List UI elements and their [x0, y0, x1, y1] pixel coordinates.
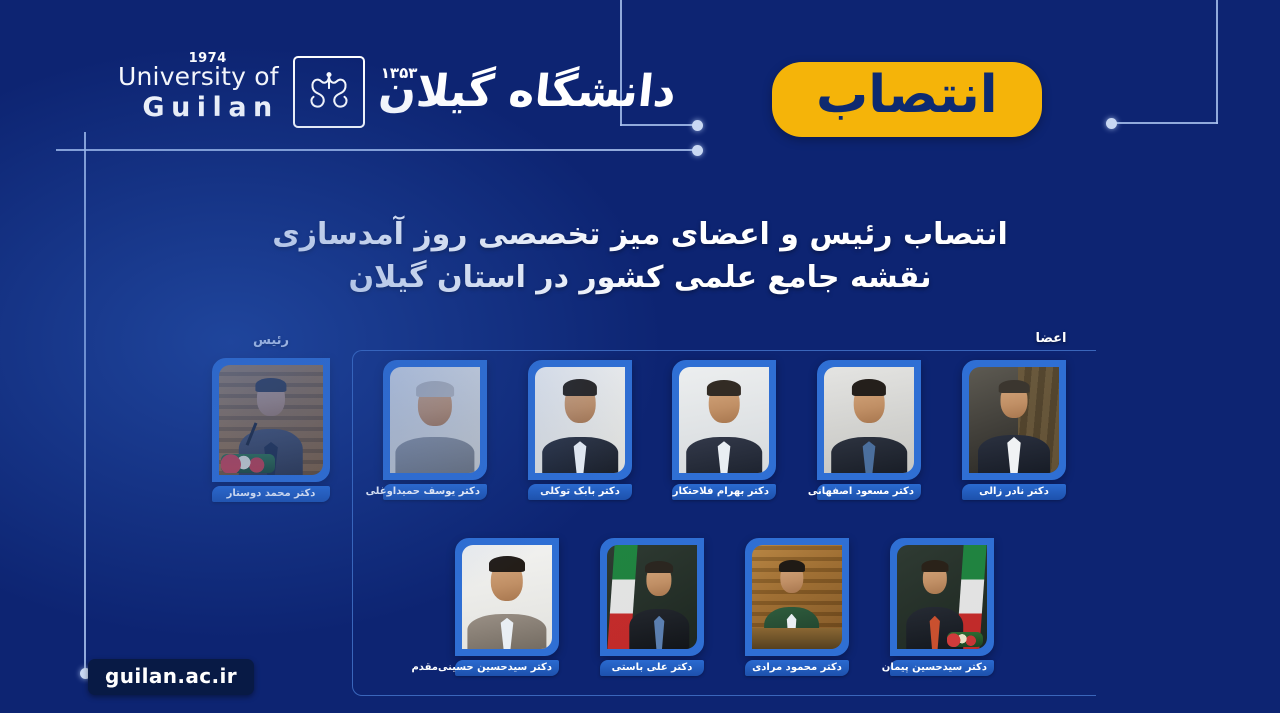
member-card-9[interactable]: دکتر سیدحسین پیمان — [890, 538, 994, 676]
page-title-line2: نقشه جامع علمی کشور در استان گیلان — [0, 257, 1280, 300]
member-photo-frame — [890, 538, 994, 656]
chair-name-label: دکتر محمد دوستار — [212, 486, 330, 502]
poster-canvas: 1974 University of Guilan ۱۳۵۳ دانشگاه گ… — [0, 0, 1280, 713]
chair-photo-frame — [212, 358, 330, 482]
member-photo-frame — [600, 538, 704, 656]
member-photo-frame — [817, 360, 921, 480]
deco-dot-right — [1106, 118, 1117, 129]
member-portrait-photo — [679, 367, 769, 473]
member-name-label: دکتر نادر زالی — [962, 484, 1066, 500]
logo-english-line1: University of — [118, 64, 279, 89]
university-logo: 1974 University of Guilan ۱۳۵۳ دانشگاه گ… — [118, 56, 682, 128]
member-photo-frame — [455, 538, 559, 656]
member-name-label: دکتر محمود مرادی — [745, 660, 849, 676]
website-url-pill[interactable]: guilan.ac.ir — [88, 659, 254, 695]
member-card-1[interactable]: دکتر یوسف حمیداوغلی — [383, 360, 487, 500]
member-name-label: دکتر بهرام فلاحتکار — [672, 484, 776, 500]
member-portrait-photo — [535, 367, 625, 473]
deco-line-right-vertical — [1216, 0, 1218, 124]
member-name-label: دکتر سیدحسین پیمان — [890, 660, 994, 676]
member-portrait-photo — [462, 545, 552, 649]
member-card-3[interactable]: دکتر بهرام فلاحتکار — [672, 360, 776, 500]
member-photo-frame — [672, 360, 776, 480]
deco-line-right-horizontal — [1112, 122, 1218, 124]
deco-dot-logo-underline — [692, 145, 703, 156]
logo-persian-name: دانشگاه گیلان — [376, 70, 677, 114]
member-name-label: دکتر سیدحسین حسینی‌مقدم — [455, 660, 559, 676]
member-name-label: دکتر یوسف حمیداوغلی — [383, 484, 487, 500]
member-portrait-photo — [752, 545, 842, 649]
member-card-8[interactable]: دکتر محمود مرادی — [745, 538, 849, 676]
member-card-4[interactable]: دکتر مسعود اصفهانی — [817, 360, 921, 500]
member-portrait-photo — [897, 545, 987, 649]
member-portrait-photo — [824, 367, 914, 473]
deco-line-logo-underline — [56, 149, 698, 151]
member-card-2[interactable]: دکتر بابک توکلی — [528, 360, 632, 500]
member-photo-frame — [745, 538, 849, 656]
logo-english-line2: Guilan — [118, 94, 279, 121]
chair-portrait-photo — [219, 365, 323, 475]
member-name-label: دکتر علی باستی — [600, 660, 704, 676]
status-badge: انتصاب — [772, 62, 1042, 137]
member-photo-frame — [383, 360, 487, 480]
section-label-chair: رئیس — [236, 333, 306, 348]
member-card-5[interactable]: دکتر نادر زالی — [962, 360, 1066, 500]
member-portrait-photo — [607, 545, 697, 649]
member-photo-frame — [528, 360, 632, 480]
member-portrait-photo — [969, 367, 1059, 473]
section-label-members: اعضا — [1016, 331, 1086, 346]
chair-card[interactable]: دکتر محمد دوستار — [212, 358, 330, 502]
member-card-7[interactable]: دکتر علی باستی — [600, 538, 704, 676]
member-portrait-photo — [390, 367, 480, 473]
member-name-label: دکتر بابک توکلی — [528, 484, 632, 500]
guilan-emblem-icon — [293, 56, 365, 128]
member-card-6[interactable]: دکتر سیدحسین حسینی‌مقدم — [455, 538, 559, 676]
logo-english-text: 1974 University of Guilan — [118, 64, 279, 121]
page-title-line1: انتصاب رئیس و اعضای میز تخصصی روز آمدساز… — [0, 214, 1280, 257]
member-name-label: دکتر مسعود اصفهانی — [817, 484, 921, 500]
member-photo-frame — [962, 360, 1066, 480]
logo-year-gregorian: 1974 — [189, 52, 227, 65]
page-title: انتصاب رئیس و اعضای میز تخصصی روز آمدساز… — [0, 214, 1280, 299]
logo-persian-text: ۱۳۵۳ دانشگاه گیلان — [379, 70, 682, 114]
deco-dot-top-right — [692, 120, 703, 131]
